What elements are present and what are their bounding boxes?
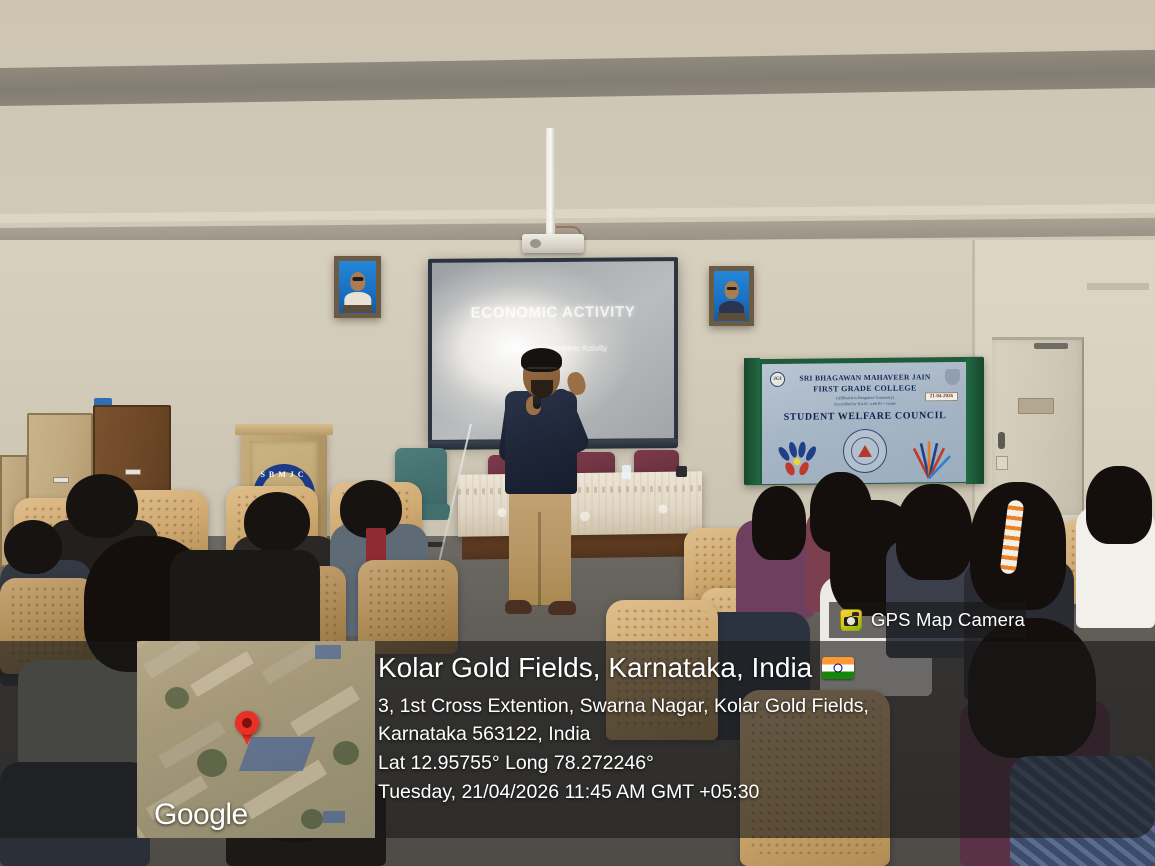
board-frame-right [966,358,984,484]
address-line-2: Karnataka 563122, India [378,720,1135,749]
portrait-head [724,281,739,299]
podium-logo-text: SBMJC [249,470,319,479]
photo-canvas: ECONOMIC ACTIVITY Identify your Economic… [0,0,1155,866]
location-title: Kolar Gold Fields, Karnataka, India [378,651,812,685]
wall-upper [0,0,1155,236]
audience-chair [358,560,458,654]
person-head [4,520,62,574]
map-building [190,651,254,697]
portrait-nameplate [343,305,373,312]
banner-event-title: STUDENT WELFARE COUNCIL [762,410,968,423]
gps-map-camera-label: GPS Map Camera [871,609,1025,631]
door-plaque [1018,398,1054,414]
map-vegetation [333,741,359,765]
cupboard-handle[interactable] [125,469,141,475]
timestamp: Tuesday, 21/04/2026 11:45 AM GMT +05:30 [378,778,1135,807]
map-pin-icon [230,706,264,740]
portrait-ambedkar [709,266,754,326]
wall-ledge-right [1087,283,1149,290]
person-head [66,474,138,538]
speaker-beard [531,380,553,398]
event-banner: JGI SRI BHAGAWAN MAHAVEER JAIN FIRST GRA… [762,362,968,484]
door-closer [1034,343,1068,349]
location-title-row: Kolar Gold Fields, Karnataka, India [378,651,1135,685]
location-info-text: Kolar Gold Fields, Karnataka, India 3, 1… [378,651,1135,806]
table-lace-cloth [458,471,702,536]
speaker-shoe-right [548,601,576,615]
portrait-glasses [352,277,363,281]
gps-map-camera-logo-icon [840,609,862,631]
banner-date-badge: 21-04-2026 [925,392,958,401]
portrait-head [350,272,366,291]
podium-top [235,424,333,435]
map-vegetation [197,749,227,777]
coordinates: Lat 12.95755° Long 78.272246° [378,749,1135,778]
person-hair [752,486,806,560]
water-bottle [622,465,631,479]
google-attribution: Google [154,798,248,832]
seal-star-icon [858,445,872,457]
person-head [244,492,310,552]
slide-title: ECONOMIC ACTIVITY [432,303,674,322]
map-roof [315,645,341,659]
cupboard-handle[interactable] [53,477,69,483]
projector-mount-pole [546,128,555,238]
map-vegetation [165,687,189,709]
door-lock-icon [996,456,1008,470]
board-frame-left [744,358,760,484]
address-line-1: 3, 1st Cross Extention, Swarna Nagar, Ko… [378,692,1135,721]
speaker-leg-separation [538,512,541,606]
person-hair [1086,466,1152,544]
portrait-gandhi [334,256,381,318]
speaker-shoe-left [505,600,532,614]
camera-lens-icon [852,612,859,616]
banner-decoration-right [902,434,956,481]
door-handle[interactable] [998,432,1005,449]
india-flag-icon [822,657,854,679]
portrait-nameplate [718,313,746,320]
map-vegetation [301,809,323,829]
map-roof [323,811,345,823]
map-thumbnail[interactable]: Google [137,641,375,838]
projector-lens [530,239,541,248]
banner-org-line-1: SRI BHAGAWAN MAHAVEER JAIN [762,372,968,383]
council-seal-icon [843,429,887,473]
map-building [290,686,360,737]
dais-table [458,471,702,536]
banner-decoration-left [776,441,826,482]
speaker-glasses [527,367,557,374]
portrait-glasses [726,287,737,291]
dais-table-base [462,532,698,559]
person-hair [896,484,972,580]
notice-board: JGI SRI BHAGAWAN MAHAVEER JAIN FIRST GRA… [744,357,984,486]
map-building [143,641,201,679]
map-building [261,641,320,684]
gps-map-camera-watermark: GPS Map Camera [829,602,1026,638]
table-microphone-base [676,466,687,477]
